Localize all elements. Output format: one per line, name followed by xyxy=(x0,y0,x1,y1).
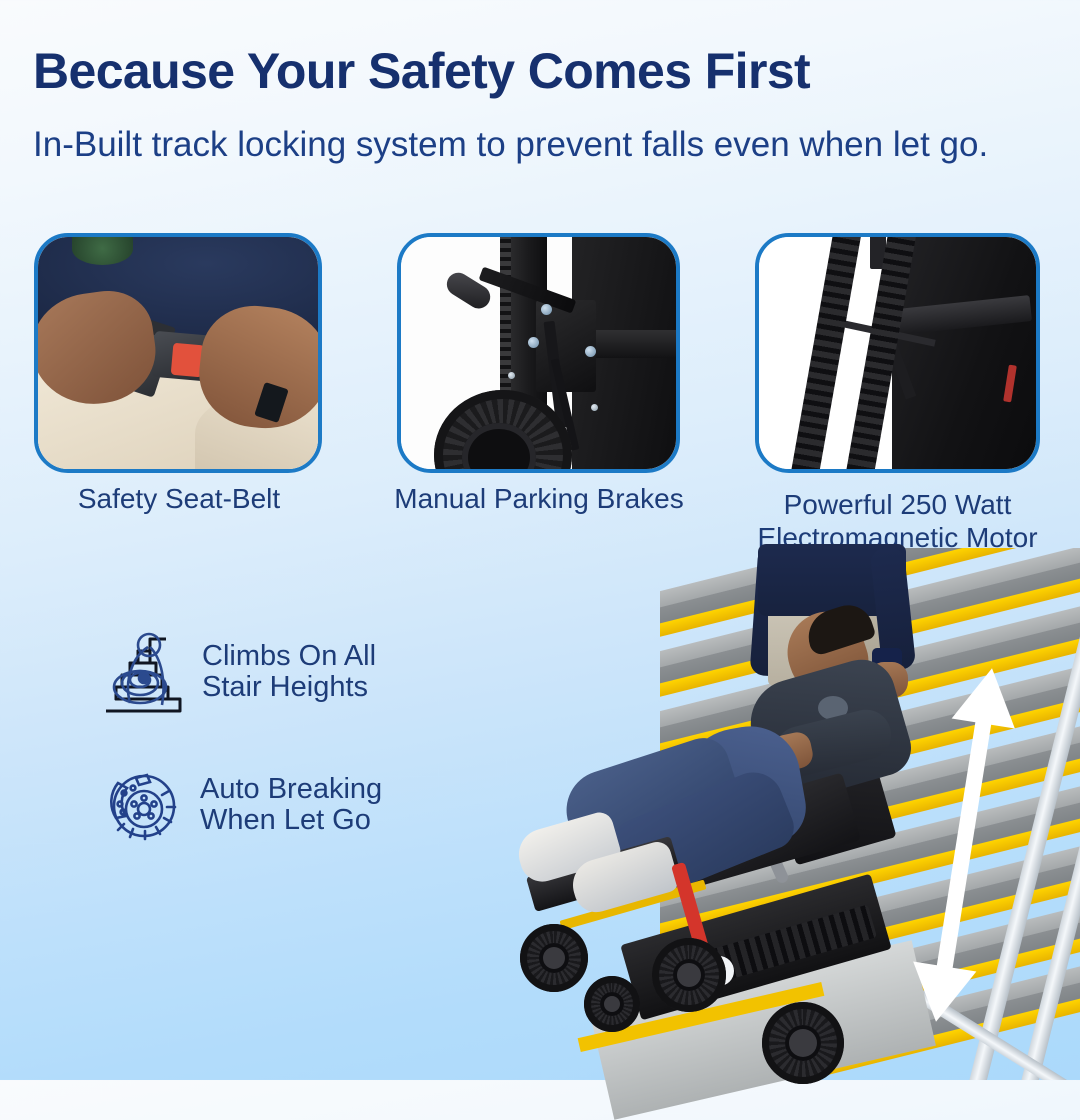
feature-item-label-2: Auto Breaking When Let Go xyxy=(200,774,382,837)
wheelchair-and-rider xyxy=(506,608,936,1080)
feature-card-safety-seat-belt xyxy=(34,233,322,473)
brake-disc-icon xyxy=(100,765,184,845)
page-title: Because Your Safety Comes First xyxy=(33,44,993,98)
electromagnetic-motor-track-photo xyxy=(759,237,1036,469)
manual-parking-brake-photo xyxy=(401,237,676,469)
feature-item-label-1: Climbs On All Stair Heights xyxy=(202,641,376,704)
feature-card-manual-parking-brakes xyxy=(397,233,680,473)
seat-belt-buckle-photo xyxy=(38,237,318,469)
feature-card-caption-2: Manual Parking Brakes xyxy=(378,482,700,515)
feature-card-caption-1: Safety Seat-Belt xyxy=(14,482,344,515)
feature-card-electromagnetic-motor xyxy=(755,233,1040,473)
feature-item-auto-breaking-when-let-go: Auto Breaking When Let Go xyxy=(100,765,382,845)
stair-climbing-wheelchair-photo xyxy=(496,548,1080,1080)
stair-steps-icon xyxy=(100,627,186,717)
infographic-canvas: Because Your Safety Comes First In-Built… xyxy=(0,0,1080,1080)
feature-item-climbs-on-all-stair-heights: Climbs On All Stair Heights xyxy=(100,627,376,717)
page-subtitle: In-Built track locking system to prevent… xyxy=(33,123,1023,167)
